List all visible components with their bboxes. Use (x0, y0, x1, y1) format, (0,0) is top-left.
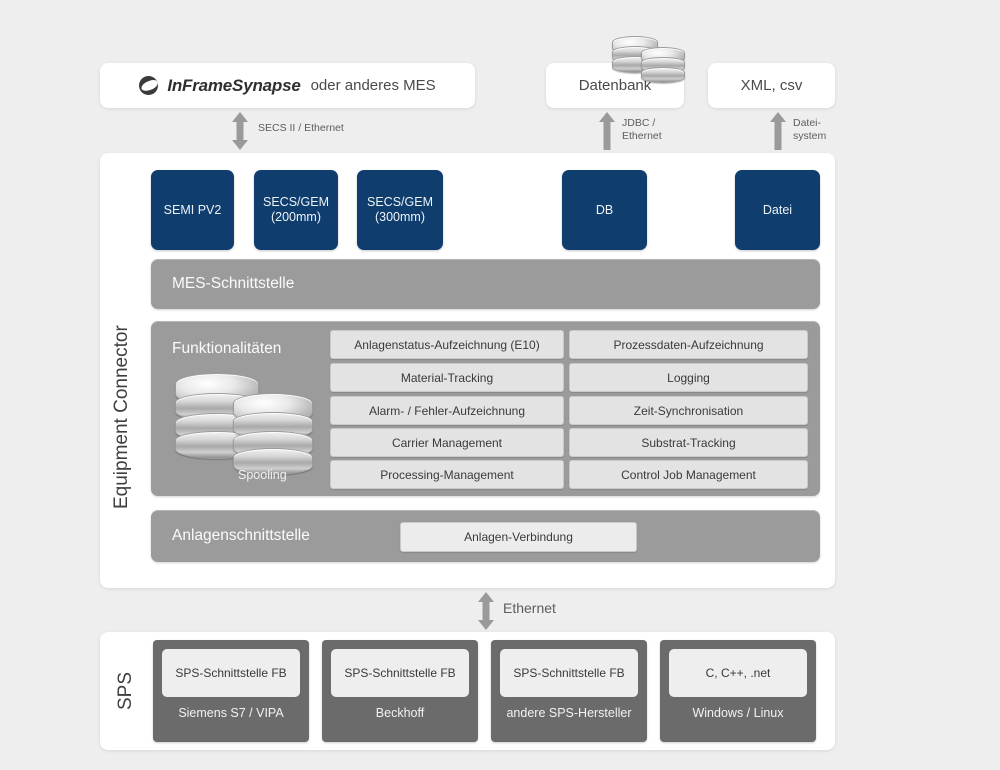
protocol-box-secsgem-200-line2: (200mm) (263, 210, 329, 225)
sps-column-beckhoff-vendor: Beckhoff (322, 706, 478, 720)
protocol-box-datei: Datei (735, 170, 820, 250)
database-stack-icon (612, 36, 684, 90)
sps-column-beckhoff-interface: SPS-Schnittstelle FB (331, 649, 469, 697)
function-pill-logging: Logging (569, 363, 808, 392)
function-pill-zeit-synchronisation-label: Zeit-Synchronisation (634, 404, 743, 418)
sps-column-andere-vendor: andere SPS-Hersteller (491, 706, 647, 720)
sps-column-pc-vendor: Windows / Linux (660, 706, 816, 720)
function-pill-anlagenstatus-label: Anlagenstatus-Aufzeichnung (E10) (354, 338, 539, 352)
inframe-synapse-logo-text: InFrameSynapse (167, 76, 300, 96)
dateisystem-arrow-label-2: system (793, 130, 826, 142)
diagram-canvas: InFrameSynapse oder anderes MES Datenban… (0, 0, 1000, 770)
function-pill-control-job-management: Control Job Management (569, 460, 808, 489)
inframe-synapse-logo-icon (139, 76, 158, 95)
protocol-box-semi-pv2: SEMI PV2 (151, 170, 234, 250)
protocol-box-db-line1: DB (596, 203, 613, 218)
sps-column-siemens-vendor: Siemens S7 / VIPA (153, 706, 309, 720)
function-pill-processing-management-label: Processing-Management (380, 468, 513, 482)
sps-column-andere-interface: SPS-Schnittstelle FB (500, 649, 638, 697)
secs-ethernet-arrow-label: SECS II / Ethernet (258, 122, 344, 134)
dateisystem-arrow-label-1: Datei- (793, 117, 821, 129)
protocol-box-secsgem-300-line1: SECS/GEM (367, 195, 433, 210)
protocol-box-secsgem-300-line2: (300mm) (367, 210, 433, 225)
function-pill-prozessdaten: Prozessdaten-Aufzeichnung (569, 330, 808, 359)
spooling-database-stack-icon (175, 373, 325, 468)
protocol-box-secsgem-300: SECS/GEM (300mm) (357, 170, 443, 250)
protocol-box-secsgem-200-line1: SECS/GEM (263, 195, 329, 210)
jdbc-ethernet-arrow-label-1: JDBC / (622, 117, 655, 129)
function-pill-carrier-management: Carrier Management (330, 428, 564, 457)
sps-column-andere: SPS-Schnittstelle FB andere SPS-Herstell… (491, 640, 647, 742)
function-pill-material-tracking-label: Material-Tracking (401, 371, 493, 385)
inframe-synapse-logo: InFrameSynapse (139, 76, 300, 96)
file-formats-label: XML, csv (741, 77, 803, 94)
function-pill-alarm-fehler-label: Alarm- / Fehler-Aufzeichnung (369, 404, 525, 418)
sps-column-siemens-interface: SPS-Schnittstelle FB (162, 649, 300, 697)
equipment-connector-title: Equipment Connector (104, 252, 140, 582)
function-pill-carrier-management-label: Carrier Management (392, 436, 502, 450)
function-pill-processing-management: Processing-Management (330, 460, 564, 489)
function-pill-control-job-management-label: Control Job Management (621, 468, 756, 482)
functions-band-label: Funktionalitäten (172, 340, 281, 358)
function-pill-anlagenstatus: Anlagenstatus-Aufzeichnung (E10) (330, 330, 564, 359)
equipment-connection-label: Anlagen-Verbindung (464, 530, 573, 544)
jdbc-ethernet-arrow-label-2: Ethernet (622, 130, 662, 142)
mes-suffix-label: oder anderes MES (311, 77, 436, 94)
ethernet-arrow (474, 592, 498, 630)
function-pill-zeit-synchronisation: Zeit-Synchronisation (569, 396, 808, 425)
spooling-label: Spooling (238, 468, 287, 482)
function-pill-prozessdaten-label: Prozessdaten-Aufzeichnung (613, 338, 763, 352)
ethernet-arrow-label: Ethernet (503, 602, 556, 614)
equipment-connection-pill: Anlagen-Verbindung (400, 522, 637, 552)
function-pill-substrat-tracking-label: Substrat-Tracking (641, 436, 735, 450)
sps-column-siemens: SPS-Schnittstelle FB Siemens S7 / VIPA (153, 640, 309, 742)
secs-ethernet-arrow (228, 112, 252, 150)
sps-column-beckhoff: SPS-Schnittstelle FB Beckhoff (322, 640, 478, 742)
dateisystem-arrow (766, 112, 790, 150)
sps-column-pc: C, C++, .net Windows / Linux (660, 640, 816, 742)
function-pill-alarm-fehler: Alarm- / Fehler-Aufzeichnung (330, 396, 564, 425)
mes-system-box: InFrameSynapse oder anderes MES (100, 63, 475, 108)
sps-title: SPS (104, 640, 148, 742)
equipment-interface-band-label: Anlagenschnittstelle (172, 527, 310, 545)
file-formats-box: XML, csv (708, 63, 835, 108)
protocol-box-db: DB (562, 170, 647, 250)
mes-interface-band-label: MES-Schnittstelle (172, 275, 294, 293)
function-pill-material-tracking: Material-Tracking (330, 363, 564, 392)
sps-column-pc-interface: C, C++, .net (669, 649, 807, 697)
jdbc-ethernet-arrow (595, 112, 619, 150)
protocol-box-semi-pv2-line1: SEMI PV2 (164, 203, 222, 218)
protocol-box-secsgem-200: SECS/GEM (200mm) (254, 170, 338, 250)
protocol-box-datei-line1: Datei (763, 203, 792, 218)
function-pill-substrat-tracking: Substrat-Tracking (569, 428, 808, 457)
function-pill-logging-label: Logging (667, 371, 710, 385)
